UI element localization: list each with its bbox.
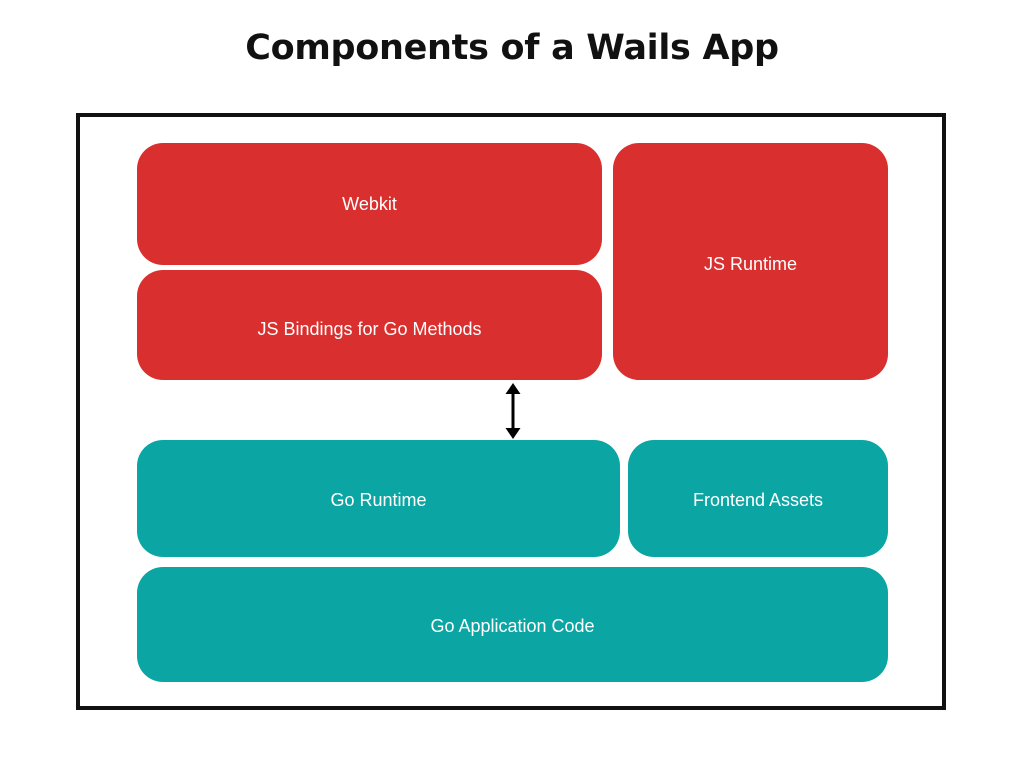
block-js-runtime[interactable]: JS Runtime: [613, 143, 888, 380]
block-frontend-assets[interactable]: Frontend Assets: [628, 440, 888, 557]
page-title: Components of a Wails App: [0, 28, 1024, 68]
block-go-application-code-label: Go Application Code: [137, 616, 888, 636]
block-webkit[interactable]: Webkit: [137, 143, 602, 265]
diagram-canvas: Components of a Wails App Webkit JS Bind…: [0, 0, 1024, 768]
double-headed-vertical-arrow-icon: [495, 380, 531, 442]
block-go-application-code[interactable]: Go Application Code: [137, 567, 888, 682]
block-go-runtime[interactable]: Go Runtime: [137, 440, 620, 557]
block-js-bindings-label: JS Bindings for Go Methods: [137, 319, 602, 339]
block-js-bindings[interactable]: JS Bindings for Go Methods: [137, 270, 602, 380]
block-webkit-label: Webkit: [137, 194, 602, 214]
block-go-runtime-label: Go Runtime: [137, 490, 620, 510]
block-js-runtime-label: JS Runtime: [613, 254, 888, 274]
block-frontend-assets-label: Frontend Assets: [628, 490, 888, 510]
